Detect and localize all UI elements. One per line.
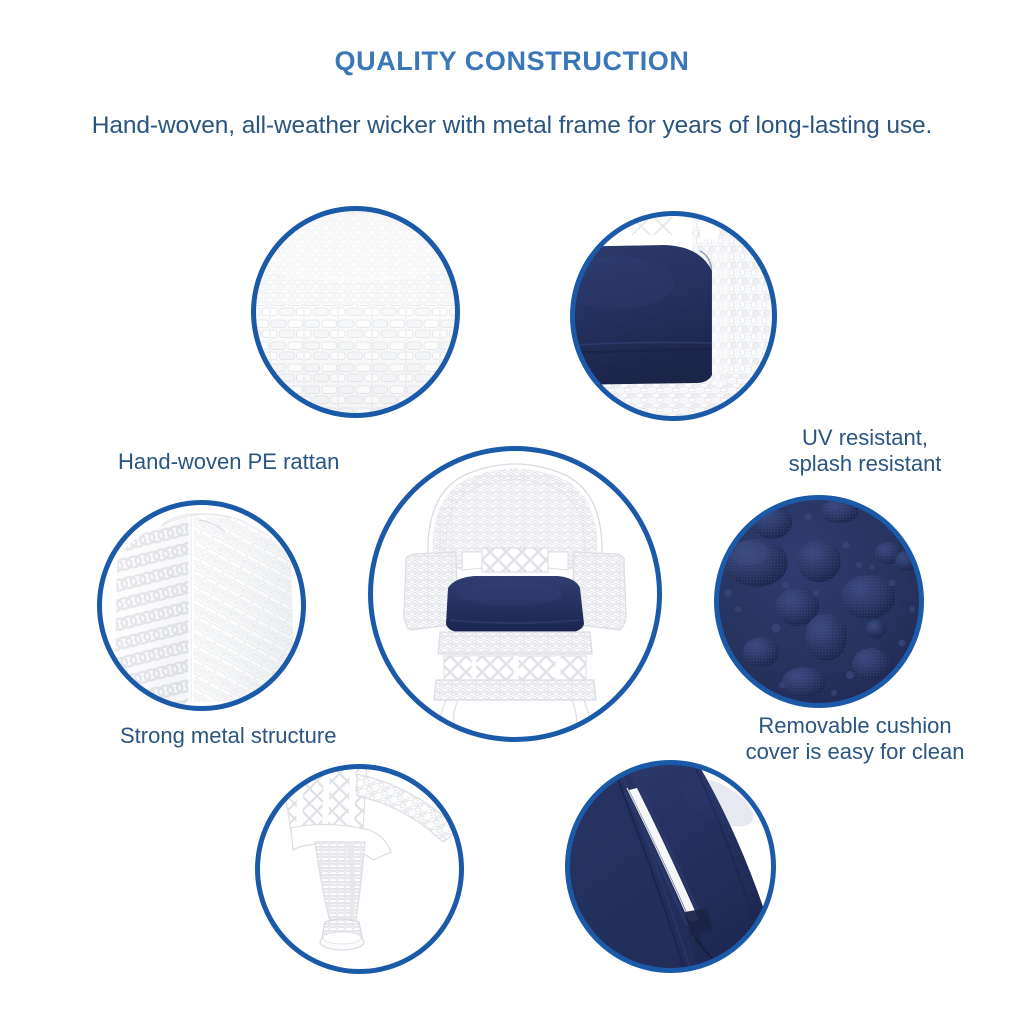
feature-image-chair-leg-detail	[257, 766, 462, 972]
page-subtitle: Hand-woven, all-weather wicker with meta…	[0, 112, 1024, 140]
caption-hand-woven-pe-rattan: Hand-woven PE rattan	[118, 449, 448, 475]
caption-uv-splash-resistant: UV resistant, splash resistant	[735, 425, 995, 477]
caption-strong-metal-structure: Strong metal structure	[120, 723, 450, 749]
white-wicker-armrest-illustration	[99, 502, 304, 709]
feature-image-strong-metal-structure	[99, 502, 304, 709]
navy-cushion-zipper-illustration	[567, 762, 774, 971]
feature-image-removable-cushion-cover	[716, 497, 922, 706]
feature-image-chair-overview	[370, 448, 660, 740]
feature-image-uv-splash-resistant	[572, 213, 775, 419]
page-title: QUALITY CONSTRUCTION	[0, 46, 1024, 77]
water-droplets-on-navy-fabric-illustration	[716, 497, 922, 706]
white-wicker-chair-illustration	[370, 448, 660, 740]
white-wicker-chair-leg-illustration	[257, 766, 462, 972]
feature-image-hand-woven-pe-rattan	[253, 208, 458, 416]
feature-image-cushion-zipper-detail	[567, 762, 774, 971]
white-rattan-weave-illustration	[253, 208, 458, 416]
infographic-page: QUALITY CONSTRUCTION Hand-woven, all-wea…	[0, 0, 1024, 1024]
caption-removable-cushion-cover: Removable cushion cover is easy for clea…	[705, 713, 1005, 765]
navy-cushion-on-wicker-illustration	[572, 213, 775, 419]
